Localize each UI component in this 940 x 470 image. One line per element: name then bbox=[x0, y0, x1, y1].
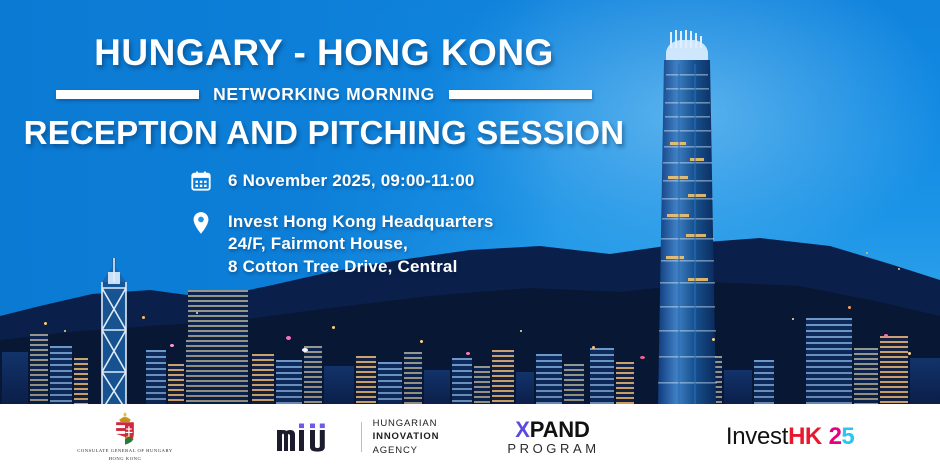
investhk-invest-text: Invest bbox=[726, 425, 788, 449]
address-line-1: 24/F, Fairmont House, bbox=[228, 233, 494, 255]
xpand-wordmark: XPAND bbox=[515, 419, 589, 441]
niu-text-line-3: AGENCY bbox=[373, 444, 440, 457]
xpand-program-label: PROGRAM bbox=[505, 442, 599, 455]
niu-text-line-2: INNOVATION bbox=[373, 430, 440, 443]
event-location: Invest Hong Kong Headquarters 24/F, Fair… bbox=[228, 211, 494, 278]
ifc-tower bbox=[650, 30, 722, 408]
calendar-icon bbox=[188, 170, 214, 198]
xpand-x-letter: X bbox=[515, 417, 529, 442]
headline-block: HUNGARY - HONG KONG NETWORKING MORNING R… bbox=[0, 34, 648, 149]
bank-of-china-tower bbox=[86, 258, 142, 410]
investhk-hk-text: HK bbox=[788, 425, 821, 449]
event-date: 6 November 2025, 09:00-11:00 bbox=[228, 170, 475, 192]
headline-primary: HUNGARY - HONG KONG bbox=[0, 34, 648, 71]
sponsor-logo-bar: CONSULATE GENERAL OF HUNGARY HONG KONG bbox=[0, 404, 940, 470]
address-line-2: 8 Cotton Tree Drive, Central bbox=[228, 256, 494, 278]
niu-logo-icon bbox=[276, 422, 350, 452]
logo-divider bbox=[361, 422, 362, 452]
headline-secondary: RECEPTION AND PITCHING SESSION bbox=[0, 116, 648, 149]
decorative-rule-left bbox=[56, 90, 199, 99]
hungary-coat-of-arms-icon bbox=[111, 412, 139, 446]
map-pin-icon bbox=[188, 211, 214, 239]
detail-row-location: Invest Hong Kong Headquarters 24/F, Fair… bbox=[188, 211, 494, 278]
headline-subtitle-row: NETWORKING MORNING bbox=[0, 84, 648, 105]
consulate-caption-line-1: CONSULATE GENERAL OF HUNGARY bbox=[77, 447, 173, 454]
detail-row-date: 6 November 2025, 09:00-11:00 bbox=[188, 170, 494, 198]
investhk-anniversary-five: 5 bbox=[841, 425, 854, 449]
headline-subtitle: NETWORKING MORNING bbox=[213, 84, 435, 105]
logo-xpand-program: XPAND PROGRAM bbox=[465, 404, 640, 470]
logo-investhk: InvestHK25 bbox=[640, 404, 940, 470]
investhk-wordmark: InvestHK25 bbox=[726, 425, 854, 449]
logo-hungarian-innovation-agency: HUNGARIAN INNOVATION AGENCY bbox=[250, 404, 465, 470]
xpand-pand-letters: PAND bbox=[530, 417, 590, 442]
consulate-caption-line-2: HONG KONG bbox=[109, 455, 142, 462]
investhk-anniversary-two: 2 bbox=[829, 425, 842, 449]
decorative-rule-right bbox=[449, 90, 592, 99]
event-details: 6 November 2025, 09:00-11:00 Invest Hong… bbox=[188, 170, 494, 278]
niu-text-line-1: HUNGARIAN bbox=[373, 417, 440, 430]
event-banner: HUNGARY - HONG KONG NETWORKING MORNING R… bbox=[0, 0, 940, 470]
niu-wordmark-text: HUNGARIAN INNOVATION AGENCY bbox=[373, 417, 440, 457]
venue-name: Invest Hong Kong Headquarters bbox=[228, 211, 494, 233]
logo-consulate-general-hungary: CONSULATE GENERAL OF HUNGARY HONG KONG bbox=[0, 404, 250, 470]
